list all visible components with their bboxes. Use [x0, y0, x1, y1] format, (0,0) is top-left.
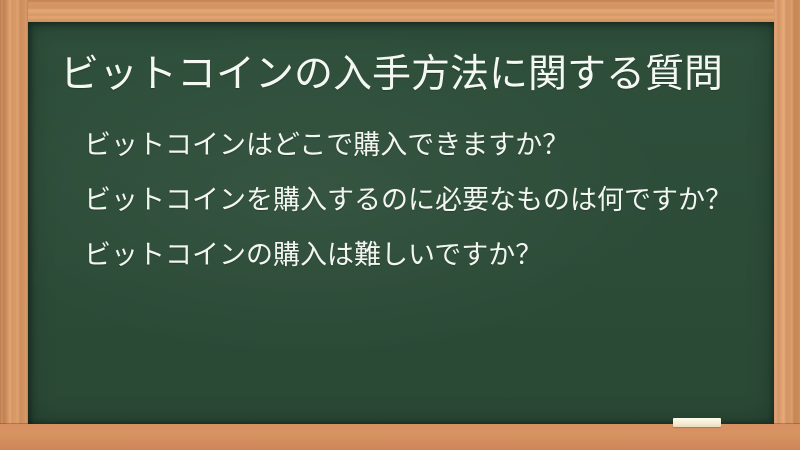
- slide-title: ビットコインの入手方法に関する質問: [60, 52, 780, 98]
- list-item: ビットコインの購入は難しいですか？: [84, 236, 784, 276]
- question-list: ビットコインはどこで購入できますか？ ビットコインを購入するのに必要なものは何で…: [84, 126, 784, 291]
- list-item: ビットコインを購入するのに必要なものは何ですか？: [84, 181, 784, 221]
- chalk-stick-icon: [673, 418, 721, 427]
- chalkboard-surface: ビットコインの入手方法に関する質問 ビットコインはどこで購入できますか？ ビット…: [28, 22, 774, 424]
- list-item: ビットコインはどこで購入できますか？: [84, 126, 784, 166]
- chalk-ledge: [0, 424, 800, 450]
- frame-left-rail: [0, 0, 28, 450]
- chalkboard-slide: ビットコインの入手方法に関する質問 ビットコインはどこで購入できますか？ ビット…: [0, 0, 800, 450]
